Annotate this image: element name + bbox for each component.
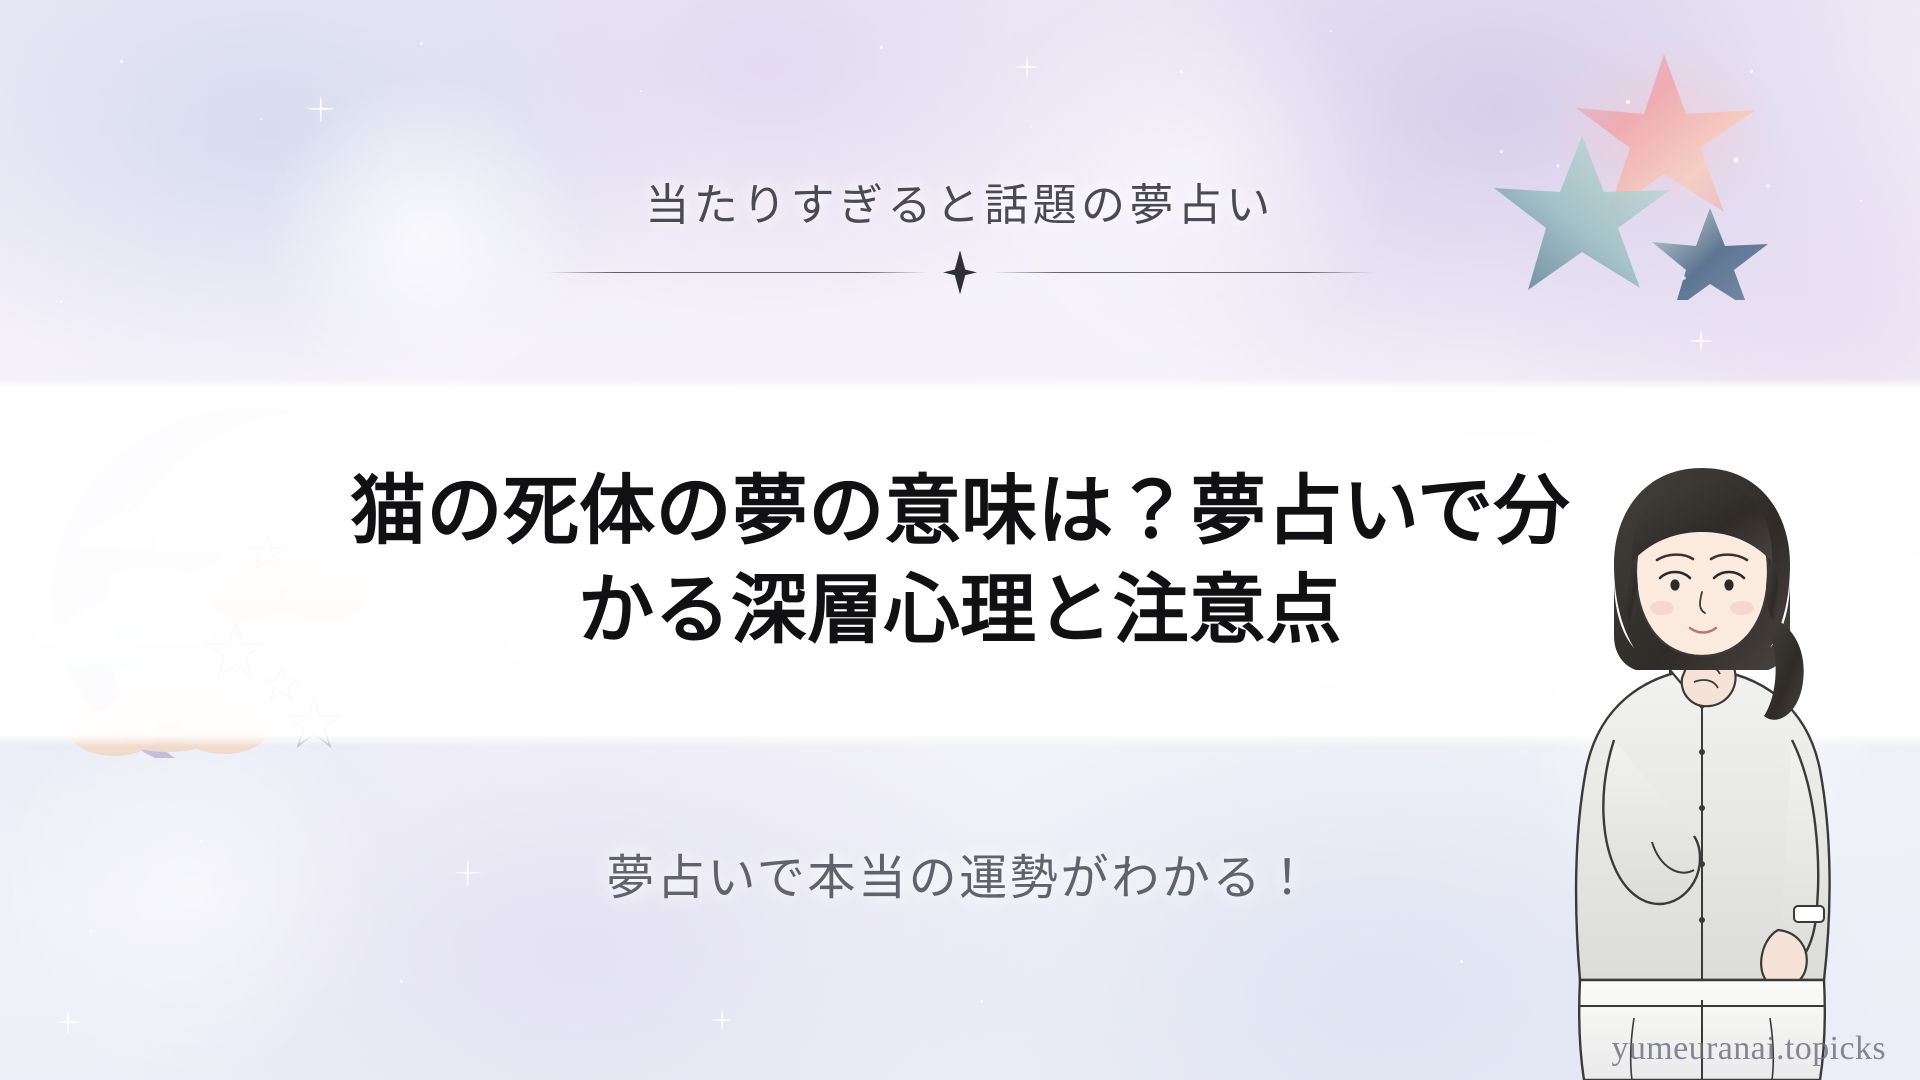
sparkle-dot-icon — [60, 300, 63, 303]
sparkle-dot-icon — [980, 1000, 983, 1003]
hero-banner: 当たりすぎると話題の夢占い — [0, 0, 1920, 1080]
sparkle-dot-icon — [400, 980, 403, 983]
sparkle-dot-icon — [1030, 126, 1032, 128]
sparkle-dot-icon — [90, 930, 92, 932]
sparkle-dot-icon — [880, 46, 883, 49]
divider-line-left — [547, 272, 929, 273]
header-lockup: 当たりすぎると話題の夢占い — [0, 182, 1920, 294]
sparkle-dot-icon — [260, 118, 262, 120]
sparkle-dot-icon — [1460, 960, 1463, 963]
sparkle-4point-icon — [1690, 330, 1712, 352]
eyebrow-text: 当たりすぎると話題の夢占い — [645, 182, 1274, 230]
sparkle-4point-icon — [1016, 56, 1038, 78]
sparkle-4point-icon — [56, 1010, 80, 1034]
sparkle-dot-icon — [640, 90, 642, 92]
sparkle-4point-icon — [712, 1010, 732, 1030]
sparkle-4point-icon — [308, 96, 334, 122]
sparkle-dot-icon — [1330, 30, 1332, 32]
diamond-sparkle-icon — [943, 250, 977, 294]
sparkle-dot-icon — [1180, 70, 1183, 73]
sparkle-dot-icon — [120, 60, 123, 63]
divider-line-right — [991, 272, 1373, 273]
divider-row — [547, 250, 1373, 294]
site-watermark: yumeuranai.topicks — [1611, 1030, 1886, 1068]
page-title: 猫の死体の夢の意味は？夢占いで分 かる深層心理と注意点 — [350, 463, 1570, 661]
sparkle-dot-icon — [420, 42, 423, 45]
woman-thinking-illustration — [1502, 440, 1902, 1080]
